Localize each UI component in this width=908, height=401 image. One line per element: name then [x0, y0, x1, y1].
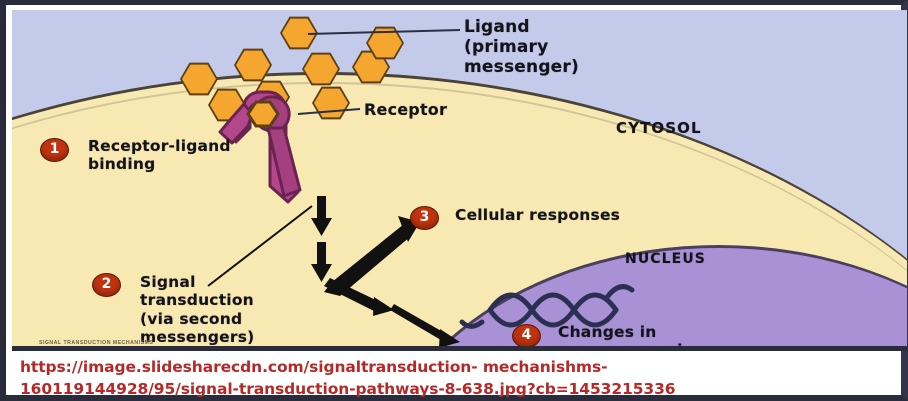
- step-label-1: Receptor-ligand binding: [88, 137, 231, 174]
- image-frame: Ligand (primary messenger) Receptor CYTO…: [0, 0, 908, 401]
- ligand-hexagon: [280, 16, 318, 50]
- screenshot-root: Ligand (primary messenger) Receptor CYTO…: [0, 0, 908, 401]
- step-badge-3: 3: [410, 206, 439, 230]
- receptor-callout-label: Receptor: [364, 101, 447, 120]
- nucleus-region-label: NUCLEUS: [625, 251, 706, 268]
- signal-transduction-figure: Ligand (primary messenger) Receptor CYTO…: [12, 10, 907, 351]
- figure-watermark: SIGNAL TRANSDUCTION MECHANISMS: [39, 340, 153, 346]
- source-url-caption: https://image.slidesharecdn.com/signaltr…: [20, 356, 880, 400]
- cytosol-region-label: CYTOSOL: [616, 120, 702, 138]
- step-badge-2: 2: [92, 273, 121, 297]
- step-badge-1: 1: [40, 138, 69, 162]
- step-label-2: Signal transduction (via second messenge…: [140, 273, 254, 346]
- source-url-line-1: https://image.slidesharecdn.com/signaltr…: [20, 356, 880, 378]
- step-label-3: Cellular responses: [455, 206, 620, 224]
- source-url-line-2: 160119144928/95/signal-transduction-path…: [20, 378, 880, 400]
- step-label-4: Changes in gene expression: [558, 323, 705, 351]
- ligand-callout-label: Ligand (primary messenger): [464, 17, 579, 77]
- step-badge-4: 4: [512, 324, 541, 348]
